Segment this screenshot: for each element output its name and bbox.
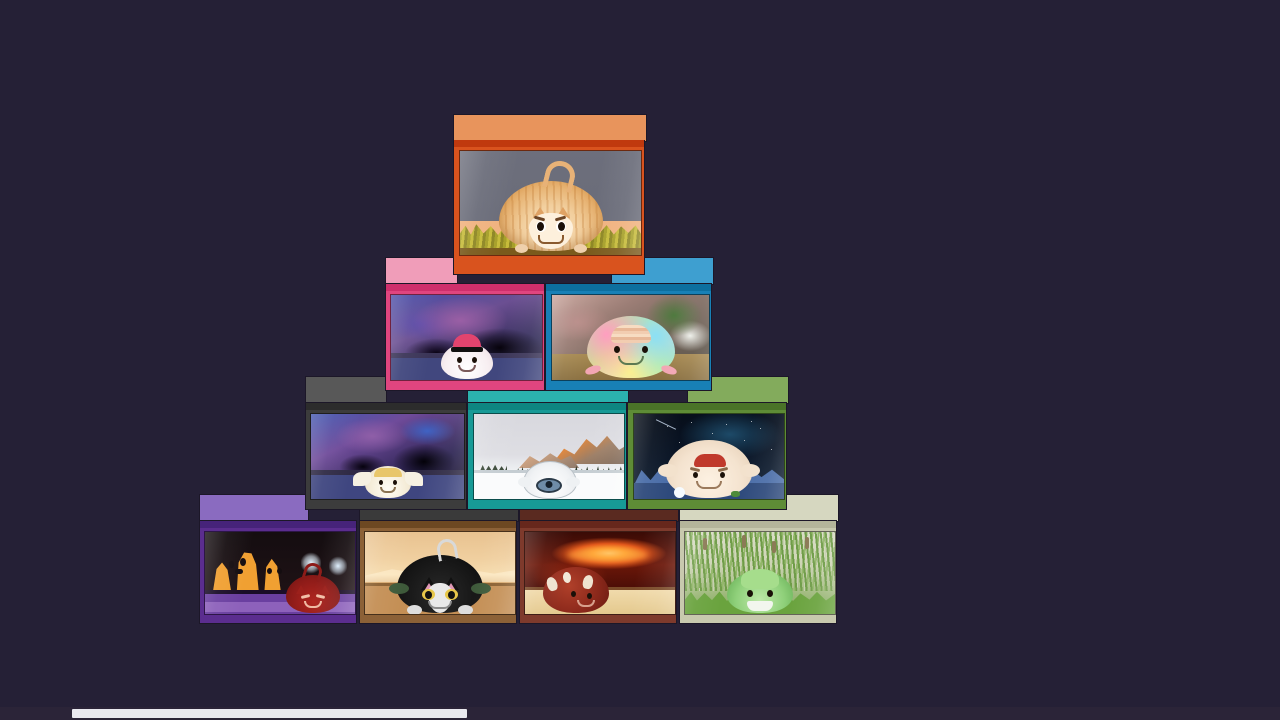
tile-accent-strip [454,140,644,147]
habitat-tile-red-devil[interactable] [199,494,357,624]
habitat-pyramid-canvas [0,0,1280,720]
habitat-viewport[interactable] [473,413,625,500]
tile-frame [627,402,787,510]
tile-accent-strip [306,403,466,410]
tile-frame [385,283,545,391]
creature-orange-tabby [499,181,603,251]
scene-violet-marble-void [311,414,464,499]
habitat-tile-redcap-fluff[interactable] [627,376,787,510]
habitat-viewport[interactable] [551,294,710,381]
creature-crimson-horned [543,567,609,613]
habitat-tile-rainbow-frog[interactable] [545,257,712,391]
tile-accent-strip [360,521,516,528]
tile-frame [467,402,627,510]
habitat-viewport[interactable] [524,531,676,615]
tile-accent-strip [520,521,676,528]
habitat-tile-winged-blob[interactable] [305,376,467,510]
creature-sleepy-blob [523,461,575,497]
tile-frame [199,520,357,624]
habitat-tile-sleepy-blob[interactable] [467,376,627,510]
tile-frame [359,520,517,624]
tile-accent-strip [200,521,356,528]
tile-frame [545,283,712,391]
tile-frame [305,402,467,510]
creature-winged-blob [365,466,411,498]
habitat-tile-pink-hat-blob[interactable] [385,257,545,391]
scrollbar-thumb[interactable] [72,709,467,718]
tile-accent-strip [628,403,786,410]
habitat-viewport[interactable] [633,413,785,500]
habitat-viewport[interactable] [390,294,543,381]
habitat-viewport[interactable] [364,531,516,615]
habitat-tile-tuxedo-cat[interactable] [359,494,517,624]
tile-header-band [385,257,458,285]
habitat-viewport[interactable] [459,150,642,256]
creature-pink-hat-blob [441,343,493,379]
tile-header-band [199,494,309,522]
habitat-viewport[interactable] [310,413,465,500]
tile-frame [519,520,677,624]
scene-desert-dunes [365,532,515,614]
creature-red-devil [286,575,340,613]
creature-rainbow-frog [587,316,675,378]
tile-accent-strip [386,284,544,291]
scene-reed-grass-field [685,532,835,614]
scene-hay-terrarium [460,151,641,255]
tile-accent-strip [546,284,711,291]
tile-accent-strip [680,521,836,528]
scene-snow-mountains [474,414,624,499]
tile-header-band [453,114,647,142]
creature-redcap-fluff [666,440,752,498]
scene-starry-night [634,414,784,499]
tile-frame [679,520,837,624]
tile-accent-strip [468,403,626,410]
scene-halloween-ghosts [205,532,355,614]
habitat-tile-green-frog[interactable] [679,494,837,624]
creature-tuxedo-cat [397,555,483,613]
habitat-viewport[interactable] [204,531,356,615]
scene-purple-marble-cave [391,295,542,380]
scene-lava-blast [525,532,675,614]
habitat-tile-orange-tabby[interactable] [453,114,645,275]
habitat-viewport[interactable] [684,531,836,615]
tile-frame [453,140,645,275]
scene-rocky-moss-canyon [552,295,709,380]
horizontal-scrollbar[interactable] [0,707,1280,720]
tile-header-band [305,376,387,404]
habitat-tile-crimson-horned[interactable] [519,494,677,624]
creature-green-frog [727,571,793,613]
